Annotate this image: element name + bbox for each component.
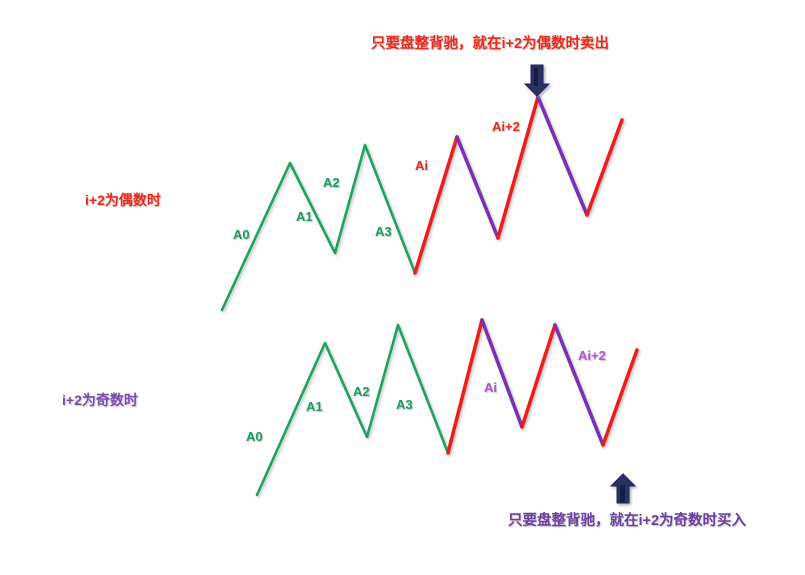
top-pivot-label-a1: A1 <box>296 210 313 223</box>
down-arrow-icon <box>525 65 549 96</box>
zigzag-diagram-canvas <box>0 0 805 575</box>
top-pivot-label-a3: A3 <box>375 225 392 238</box>
top-pivot-label-a2: A2 <box>323 176 340 189</box>
top-pivot-label-ai-plus-2: Ai+2 <box>492 120 520 133</box>
top-red-segment-3 <box>587 120 622 215</box>
bottom-purple-segment-2 <box>555 325 603 445</box>
bottom-green-zigzag <box>257 325 448 495</box>
bottom-pivot-label-ai-plus-2: Ai+2 <box>578 349 606 362</box>
bottom-pivot-label-a0: A0 <box>246 430 263 443</box>
bottom-buy-note: 只要盘整背驰，就在i+2为奇数时买入 <box>508 514 746 529</box>
bottom-red-segment-2 <box>522 325 555 427</box>
bottom-purple-segment-1 <box>482 320 522 427</box>
bottom-pivot-label-a1: A1 <box>306 400 323 413</box>
up-arrow-icon <box>611 474 635 503</box>
top-pivot-label-ai: Ai <box>415 159 428 172</box>
top-pivot-label-a0: A0 <box>233 228 250 241</box>
bottom-pivot-label-a2: A2 <box>353 385 370 398</box>
top-sell-note: 只要盘整背驰，就在i+2为偶数时卖出 <box>371 37 609 52</box>
bottom-red-segment-1 <box>448 320 482 453</box>
bottom-pivot-label-ai: Ai <box>484 381 497 394</box>
top-chart-lines <box>222 97 622 310</box>
top-purple-segment-1 <box>457 137 498 238</box>
bottom-pivot-label-a3: A3 <box>396 398 413 411</box>
left-label-odd: i+2为奇数时 <box>62 393 138 407</box>
left-label-even: i+2为偶数时 <box>85 193 161 207</box>
bottom-red-segment-3 <box>603 350 637 445</box>
top-purple-segment-2 <box>538 97 587 215</box>
